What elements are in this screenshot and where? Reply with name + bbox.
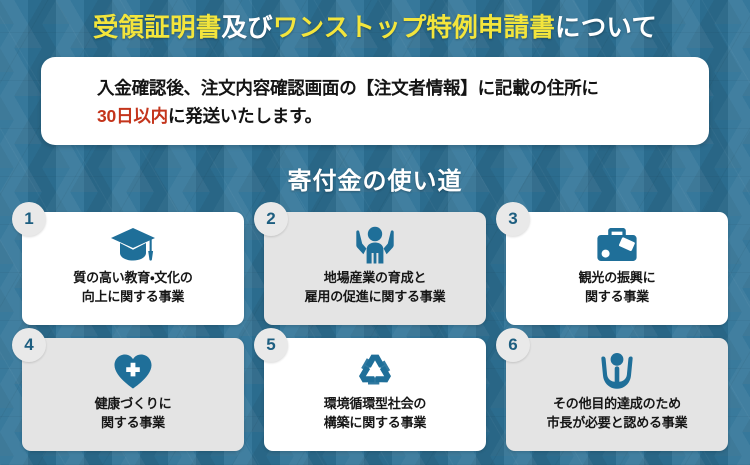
use-card-2-number-badge: 2 bbox=[254, 202, 288, 236]
heart-plus-icon bbox=[113, 351, 153, 391]
use-card-2-label-line1: 地場産業の育成と bbox=[305, 268, 446, 287]
use-card-5[interactable]: 5 bbox=[264, 338, 486, 451]
use-card-1-label-line1: 質の高い教育・文化の bbox=[73, 268, 192, 287]
use-card-2-label: 地場産業の育成と 雇用の促進に関する事業 bbox=[305, 268, 446, 306]
section-title: 寄付金の使い道 bbox=[0, 161, 750, 196]
use-card-3[interactable]: 3 観光の振興に 関する事業 bbox=[506, 212, 728, 325]
use-card-6-label: その他目的達成のため 市長が必要と認める事業 bbox=[547, 394, 688, 432]
page-title: 受領証明書及びワンストップ特例申請書について bbox=[0, 8, 750, 48]
recycle-icon bbox=[355, 351, 395, 391]
use-card-5-label-line1: 環境循環型社会の bbox=[324, 394, 426, 413]
use-card-3-label-line2: 関する事業 bbox=[579, 287, 656, 306]
use-card-1-label-line2: 向上に関する事業 bbox=[73, 287, 192, 306]
use-card-6-label-line2: 市長が必要と認める事業 bbox=[547, 413, 688, 432]
use-card-4-label: 健康づくりに 関する事業 bbox=[95, 394, 172, 432]
suitcase-icon bbox=[596, 225, 638, 265]
use-card-1-number-badge: 1 bbox=[12, 202, 46, 236]
use-card-3-label-line1: 観光の振興に bbox=[579, 268, 656, 287]
use-card-5-label-line2: 構築に関する事業 bbox=[324, 413, 426, 432]
person-in-hands-icon bbox=[600, 351, 634, 391]
use-card-6-number-badge: 6 bbox=[496, 328, 530, 362]
use-card-5-number-badge: 5 bbox=[254, 328, 288, 362]
use-card-4-label-line2: 関する事業 bbox=[95, 413, 172, 432]
title-part-3: ワンストップ特例申請書 bbox=[273, 14, 555, 42]
notice-line-1: 入金確認後、注文内容確認画面の【注文者情報】に記載の住所に bbox=[97, 74, 709, 102]
notice-card: 入金確認後、注文内容確認画面の【注文者情報】に記載の住所に 30日以内に発送いた… bbox=[41, 57, 709, 145]
use-card-3-number-badge: 3 bbox=[496, 202, 530, 236]
use-card-4-number-badge: 4 bbox=[12, 328, 46, 362]
notice-line-2: 30日以内に発送いたします。 bbox=[97, 102, 709, 130]
title-part-2: 及び bbox=[221, 14, 272, 42]
use-card-4-label-line1: 健康づくりに bbox=[95, 394, 172, 413]
use-card-1[interactable]: 1 質の高い教育・文化の 向上に関する事業 bbox=[22, 212, 244, 325]
use-card-6[interactable]: 6 その他目的達成のため 市長が必要と認める事業 bbox=[506, 338, 728, 451]
use-card-2[interactable]: 2 地場産業の育成と 雇用の促進に関する事業 bbox=[264, 212, 486, 325]
notice-deadline-emphasis: 30日以内 bbox=[97, 106, 168, 126]
use-card-1-label: 質の高い教育・文化の 向上に関する事業 bbox=[73, 268, 192, 306]
donation-use-grid: 1 質の高い教育・文化の 向上に関する事業 2 bbox=[22, 212, 728, 452]
cheering-person-icon bbox=[353, 225, 397, 265]
use-card-2-label-line2: 雇用の促進に関する事業 bbox=[305, 287, 446, 306]
use-card-3-label: 観光の振興に 関する事業 bbox=[579, 268, 656, 306]
use-card-5-label: 環境循環型社会の 構築に関する事業 bbox=[324, 394, 426, 432]
notice-line-2-rest: に発送いたします。 bbox=[168, 106, 322, 126]
graduation-cap-icon bbox=[110, 225, 156, 265]
use-card-6-label-line1: その他目的達成のため bbox=[547, 394, 688, 413]
use-card-4[interactable]: 4 健康づくりに 関する事業 bbox=[22, 338, 244, 451]
title-part-4: について bbox=[555, 14, 657, 42]
page-title-text: 受領証明書及びワンストップ特例申請書について bbox=[0, 8, 750, 48]
title-part-1: 受領証明書 bbox=[93, 14, 222, 42]
infographic-page: 受領証明書及びワンストップ特例申請書について 入金確認後、注文内容確認画面の【注… bbox=[0, 0, 750, 465]
